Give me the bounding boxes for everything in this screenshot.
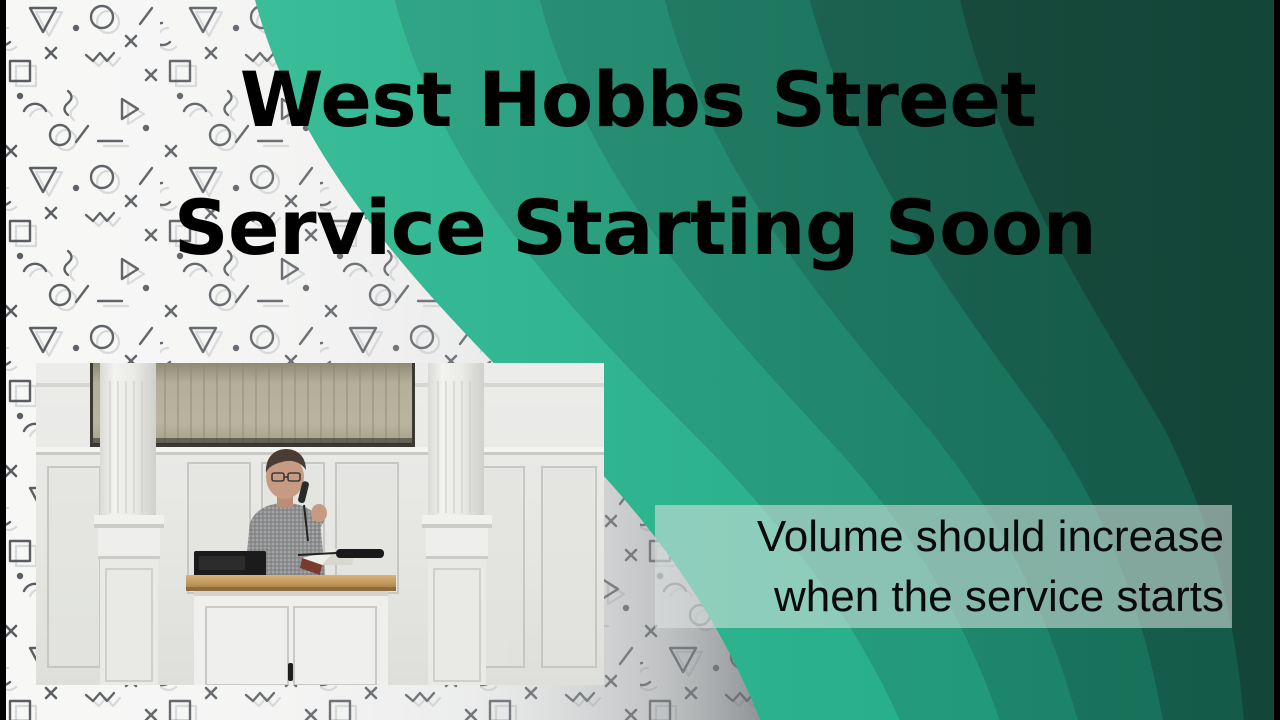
subtitle-line-1: Volume should increase	[757, 507, 1224, 567]
letterbox-bar-right	[1274, 0, 1280, 720]
subtitle-line-2: when the service starts	[774, 567, 1224, 627]
left-pilaster	[94, 363, 164, 685]
livestream-video-panel[interactable]	[36, 363, 604, 685]
subtitle-overlay-box: Volume should increase when the service …	[655, 505, 1232, 628]
sanctuary-camera-frame	[36, 363, 604, 685]
letterbox-bar-left	[0, 0, 6, 720]
right-pilaster	[422, 363, 492, 685]
slide-stage: West Hobbs Street Service Starting Soon …	[0, 0, 1280, 720]
